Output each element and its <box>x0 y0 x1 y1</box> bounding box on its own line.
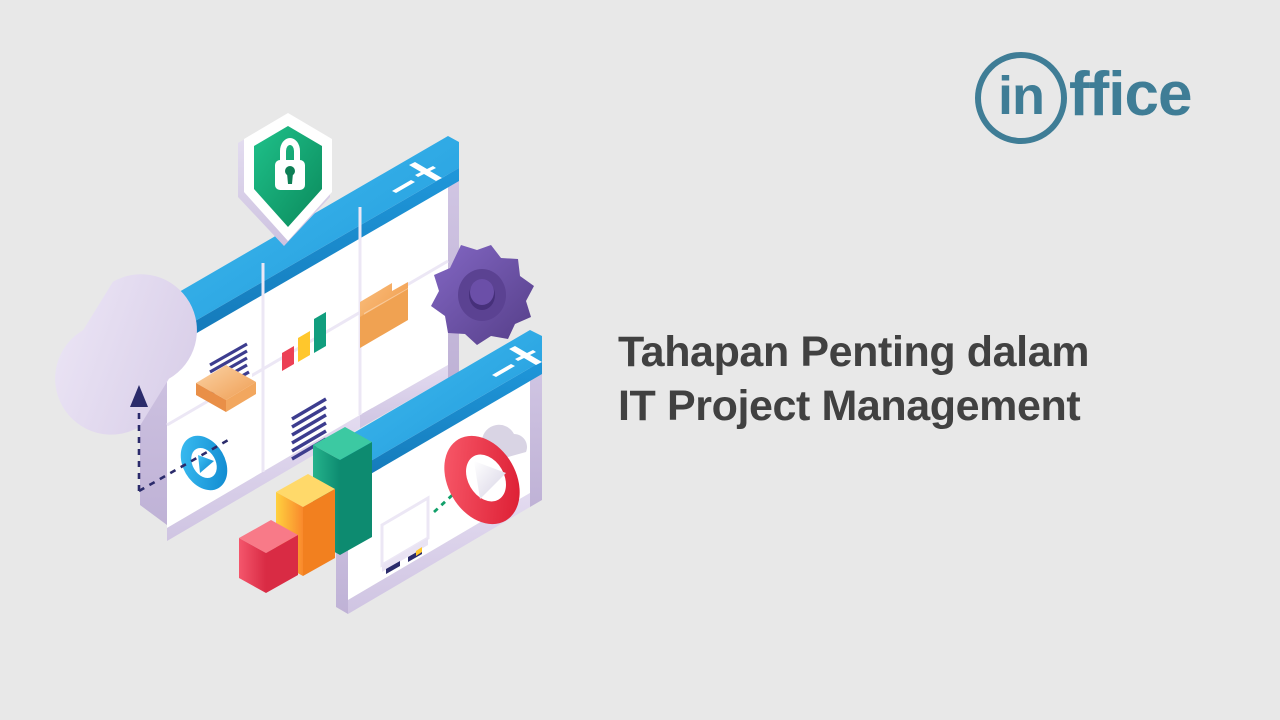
bar-3d-red <box>239 520 298 593</box>
gear-hole-top <box>470 279 494 305</box>
page-title: Tahapan Penting dalam IT Project Managem… <box>618 325 1238 434</box>
slide-canvas: Tahapan Penting dalam IT Project Managem… <box>0 0 1280 720</box>
bar-chart-bar-3 <box>314 312 326 353</box>
page-title-line-1: Tahapan Penting dalam <box>618 325 1238 380</box>
logo-mark-text: in <box>975 52 1067 144</box>
logo-circle-icon: in <box>975 52 1067 144</box>
logo-word-text: ffice <box>1069 64 1191 132</box>
page-title-line-2: IT Project Management <box>618 379 1238 434</box>
brand-logo[interactable]: in ffice <box>975 52 1191 144</box>
isometric-illustration <box>30 95 600 625</box>
